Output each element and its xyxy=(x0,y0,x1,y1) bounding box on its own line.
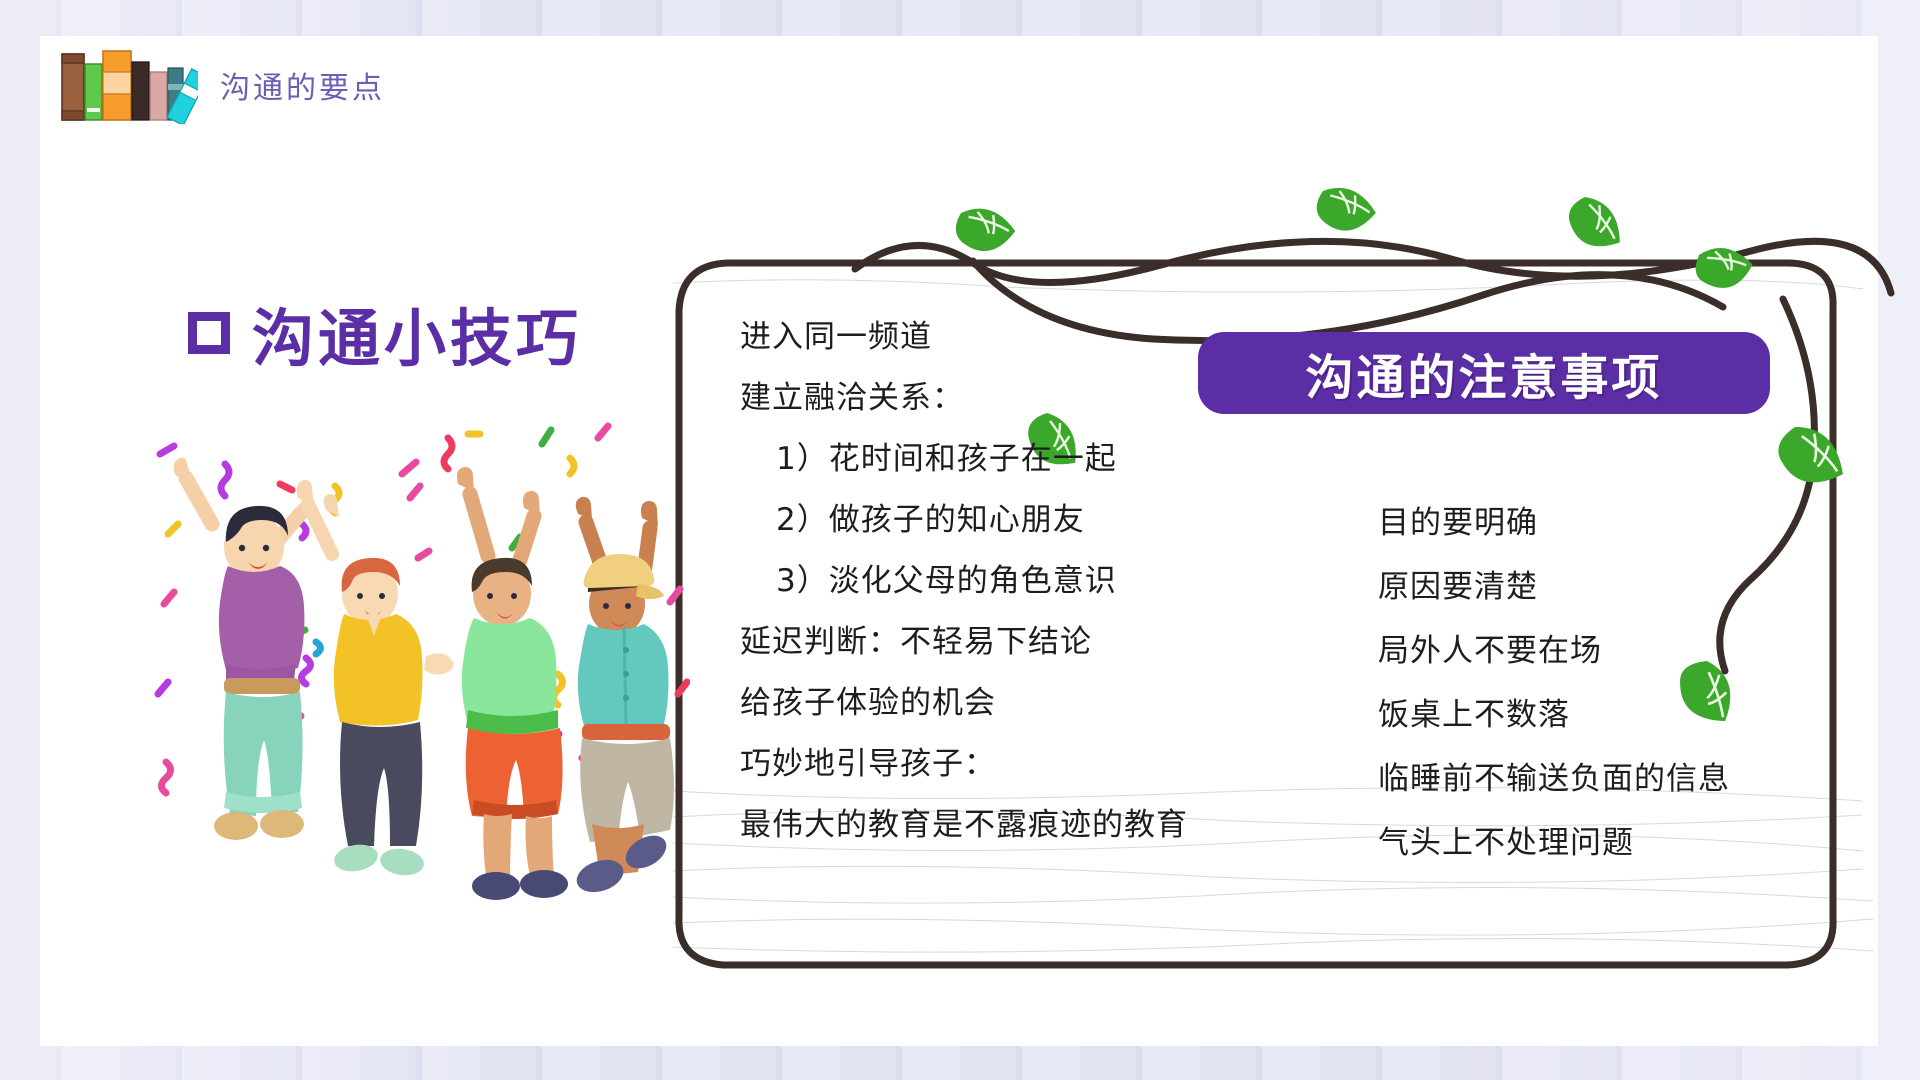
books-icon xyxy=(58,46,198,124)
list-item: 临睡前不输送负面的信息 xyxy=(1378,764,1848,795)
list-item: 最伟大的教育是不露痕迹的教育 xyxy=(740,810,1300,841)
section-title-label: 沟通小技巧 xyxy=(252,288,582,378)
jumping-children-illustration xyxy=(130,406,690,926)
communication-notices-list: 目的要明确 原因要清楚 局外人不要在场 饭桌上不数落 临睡前不输送负面的信息 气… xyxy=(1378,508,1848,892)
slide-header: 沟通的要点 xyxy=(58,46,385,124)
list-item: 局外人不要在场 xyxy=(1378,636,1848,667)
list-item: 目的要明确 xyxy=(1378,508,1848,539)
notice-banner-label: 沟通的注意事项 xyxy=(1305,338,1662,408)
list-item: 气头上不处理问题 xyxy=(1378,828,1848,859)
slide-card: 沟通的要点 沟通小技巧 xyxy=(40,36,1878,1046)
list-item: 延迟判断：不轻易下结论 xyxy=(740,627,1300,658)
list-item: 3）淡化父母的角色意识 xyxy=(740,566,1300,597)
notice-banner: 沟通的注意事项 xyxy=(1198,332,1770,414)
list-item: 1）花时间和孩子在一起 xyxy=(740,444,1300,475)
page-title: 沟通的要点 xyxy=(220,63,385,107)
section-title-communication-tips: 沟通小技巧 xyxy=(188,288,582,378)
list-item: 饭桌上不数落 xyxy=(1378,700,1848,731)
list-item: 给孩子体验的机会 xyxy=(740,688,1300,719)
list-item: 原因要清楚 xyxy=(1378,572,1848,603)
square-bullet-icon xyxy=(188,312,230,354)
list-item: 2）做孩子的知心朋友 xyxy=(740,505,1300,536)
list-item: 巧妙地引导孩子： xyxy=(740,749,1300,780)
